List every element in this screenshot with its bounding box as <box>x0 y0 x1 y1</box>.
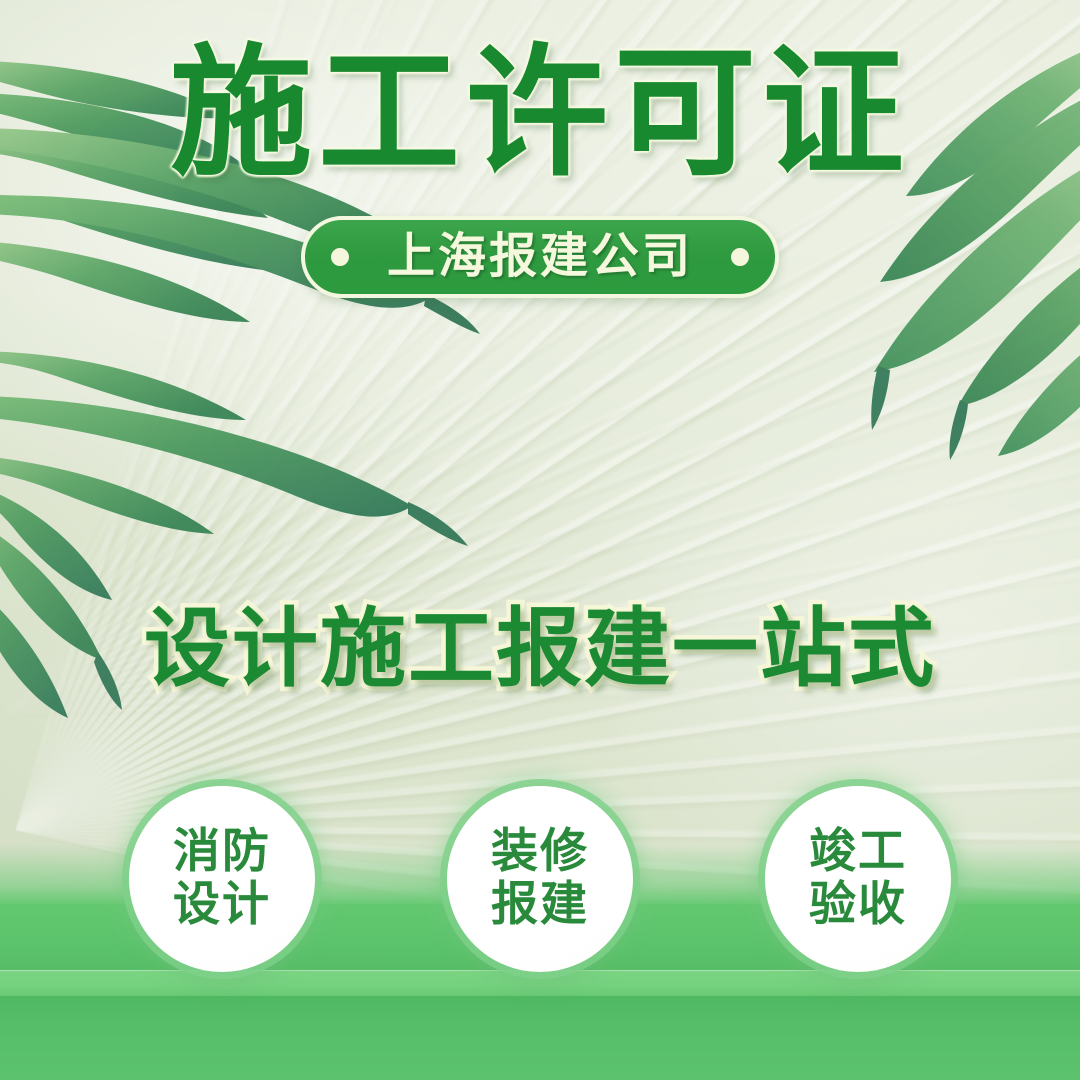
feature-label-line2: 设计 <box>173 879 271 932</box>
feature-label-line1: 竣工 <box>809 826 907 879</box>
feature-label-line2: 报建 <box>491 879 589 932</box>
feature-label-line2: 验收 <box>809 879 907 932</box>
poster-canvas: 施工许可证 上海报建公司 设计施工报建一站式 消防 设计 装修 报建 竣工 验收 <box>0 0 1080 1080</box>
subtitle-pill-label: 上海报建公司 <box>387 232 693 283</box>
feature-circle-completion-acceptance[interactable]: 竣工 验收 <box>765 786 951 972</box>
page-title: 施工许可证 <box>0 42 1080 184</box>
feature-circle-renovation-filing[interactable]: 装修 报建 <box>447 786 633 972</box>
tagline: 设计施工报建一站式 <box>0 606 1080 692</box>
feature-circle-list: 消防 设计 装修 报建 竣工 验收 <box>0 786 1080 972</box>
pill-dot-left-icon <box>331 248 349 266</box>
pill-dot-right-icon <box>731 248 749 266</box>
platform-front-face <box>0 996 1080 1080</box>
feature-circle-fire-design[interactable]: 消防 设计 <box>129 786 315 972</box>
subtitle-pill-wrapper: 上海报建公司 <box>0 216 1080 298</box>
platform-ledge <box>0 970 1080 997</box>
feature-label-line1: 装修 <box>491 826 589 879</box>
subtitle-pill[interactable]: 上海报建公司 <box>301 216 779 298</box>
feature-label-line1: 消防 <box>173 826 271 879</box>
